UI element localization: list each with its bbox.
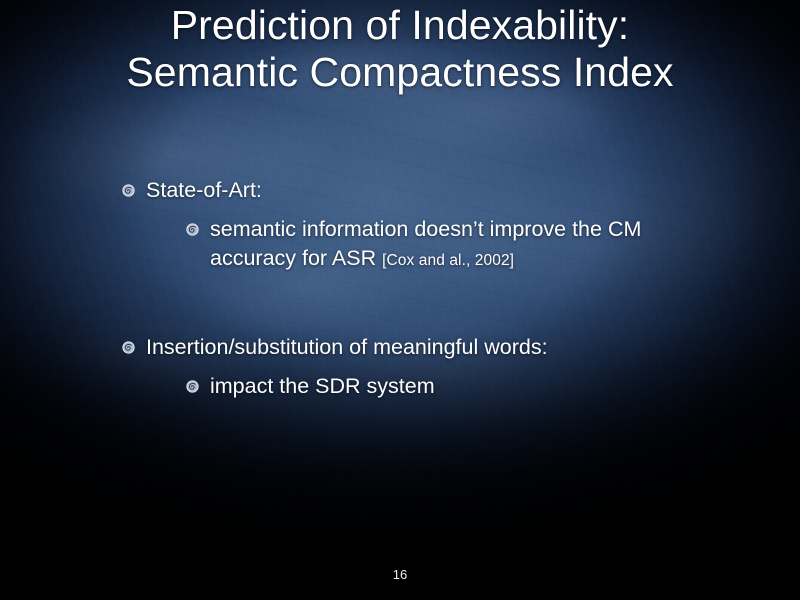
- bullet-text: impact the SDR system: [210, 372, 435, 401]
- bullet-item: impact the SDR system: [186, 372, 800, 401]
- slide-title: Prediction of Indexability: Semantic Com…: [0, 2, 800, 96]
- title-line-1: Prediction of Indexability:: [0, 2, 800, 49]
- presentation-slide: Prediction of Indexability: Semantic Com…: [0, 0, 800, 600]
- spiral-bullet-icon: [122, 184, 135, 197]
- bullet-text: State-of-Art:: [146, 176, 262, 205]
- bullet-item: semantic information doesn’t improve the…: [186, 215, 800, 275]
- bullet-text: Insertion/substitution of meaningful wor…: [146, 333, 548, 362]
- spacer: [0, 275, 800, 333]
- slide-content: Prediction of Indexability: Semantic Com…: [0, 0, 800, 600]
- bullet-item: State-of-Art:: [122, 176, 800, 205]
- spacer: [0, 205, 800, 215]
- slide-body: State-of-Art: semantic information doesn…: [0, 176, 800, 401]
- bullet-item: Insertion/substitution of meaningful wor…: [122, 333, 800, 362]
- spiral-bullet-icon: [186, 380, 199, 393]
- page-number: 16: [0, 567, 800, 582]
- citation-reference: [Cox and al., 2002]: [382, 252, 514, 269]
- spiral-bullet-icon: [186, 223, 199, 236]
- spiral-bullet-icon: [122, 341, 135, 354]
- title-line-2: Semantic Compactness Index: [0, 49, 800, 96]
- bullet-text-with-citation: semantic information doesn’t improve the…: [210, 215, 710, 275]
- spacer: [0, 362, 800, 372]
